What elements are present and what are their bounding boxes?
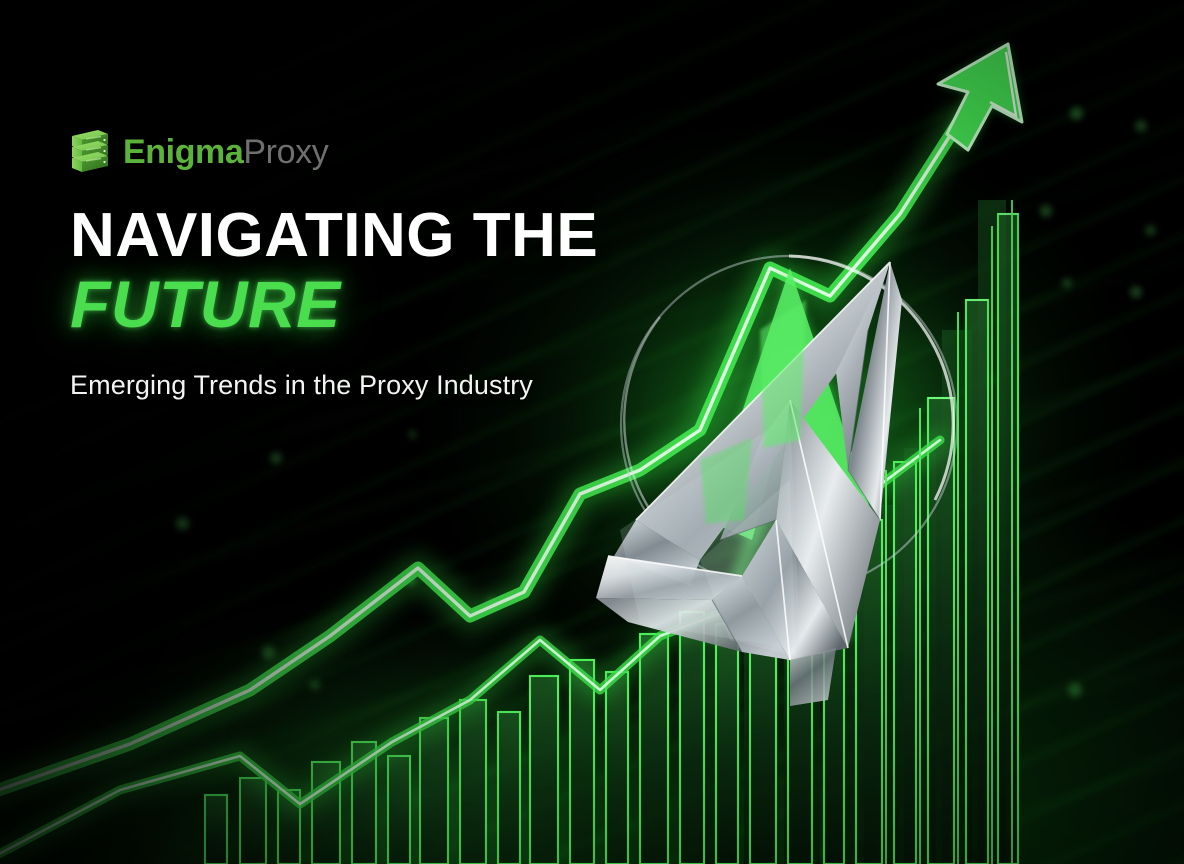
hero-content: EnigmaProxy NAVIGATING THE FUTURE Emergi… — [70, 126, 690, 401]
brand-logo[interactable]: EnigmaProxy — [70, 126, 690, 178]
neon-up-arrow-icon — [938, 44, 1022, 150]
subtitle: Emerging Trends in the Proxy Industry — [70, 369, 690, 401]
brand-wordmark: EnigmaProxy — [123, 135, 328, 169]
brand-name-secondary: Proxy — [243, 133, 328, 171]
server-stack-icon — [70, 128, 110, 176]
brand-name-primary: Enigma — [123, 133, 243, 171]
headline-line-1: NAVIGATING THE — [70, 204, 690, 267]
headline-line-2: FUTURE — [70, 271, 690, 338]
poster-canvas: EnigmaProxy NAVIGATING THE FUTURE Emergi… — [0, 0, 1184, 864]
